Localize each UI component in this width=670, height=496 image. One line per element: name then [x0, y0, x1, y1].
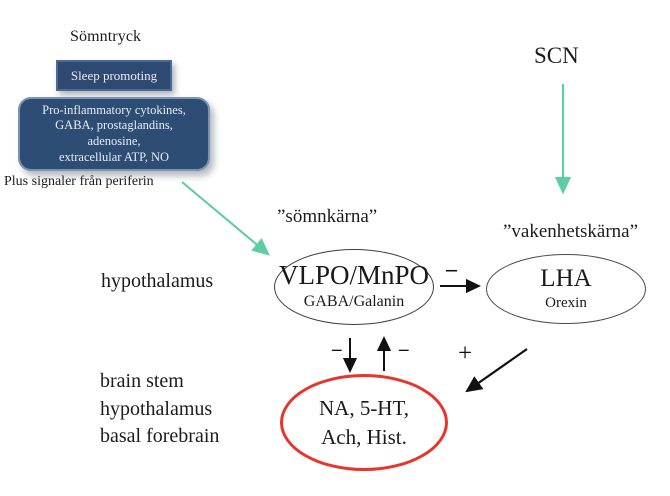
vlpo-subtitle: GABA/Galanin	[304, 294, 404, 310]
sleep-mediators-box: Pro-inflammatory cytokines, GABA, prosta…	[18, 97, 210, 171]
sleep-promoting-label: Sleep promoting	[71, 68, 157, 84]
sleep-promoting-box: Sleep promoting	[56, 60, 172, 91]
lha-subtitle: Orexin	[545, 296, 587, 311]
sleep-mediators-label: Pro-inflammatory cytokines, GABA, prosta…	[42, 103, 186, 166]
arrow-mediators-to-vlpo	[182, 182, 268, 254]
sign-minus-vlpo-to-monoamines: –	[332, 340, 342, 359]
side-label-hypothalamus: hypothalamus	[101, 270, 213, 292]
vlpo-title: VLPO/MnPO	[279, 262, 429, 289]
footnote-periferin: Plus signaler från periferin	[4, 174, 154, 190]
lha-title: LHA	[540, 266, 591, 291]
diagram-canvas: Sömntryck Plus signaler från periferin S…	[0, 0, 670, 496]
node-lha: LHA Orexin	[486, 254, 646, 324]
node-vlpo-mnpo: VLPO/MnPO GABA/Galanin	[274, 249, 434, 325]
caption-somnkarna: ”sömnkärna”	[277, 206, 377, 227]
arrow-lha-to-monoamines	[467, 349, 527, 391]
monoamines-title: NA, 5-HT, Ach, Hist.	[319, 394, 409, 451]
node-label-scn: SCN	[534, 43, 579, 69]
sign-minus-vlpo-to-lha: –	[446, 258, 457, 280]
side-label-brain-regions: brain stem hypothalamus basal forebrain	[100, 368, 219, 451]
page-title-somntryck: Sömntryck	[70, 28, 141, 46]
sign-plus-lha-to-monoamines: +	[458, 341, 472, 366]
node-monoamines: NA, 5-HT, Ach, Hist.	[280, 374, 448, 471]
caption-vakenhetskarna: ”vakenhetskärna”	[503, 221, 638, 242]
sign-minus-monoamines-to-vlpo: –	[399, 340, 409, 359]
